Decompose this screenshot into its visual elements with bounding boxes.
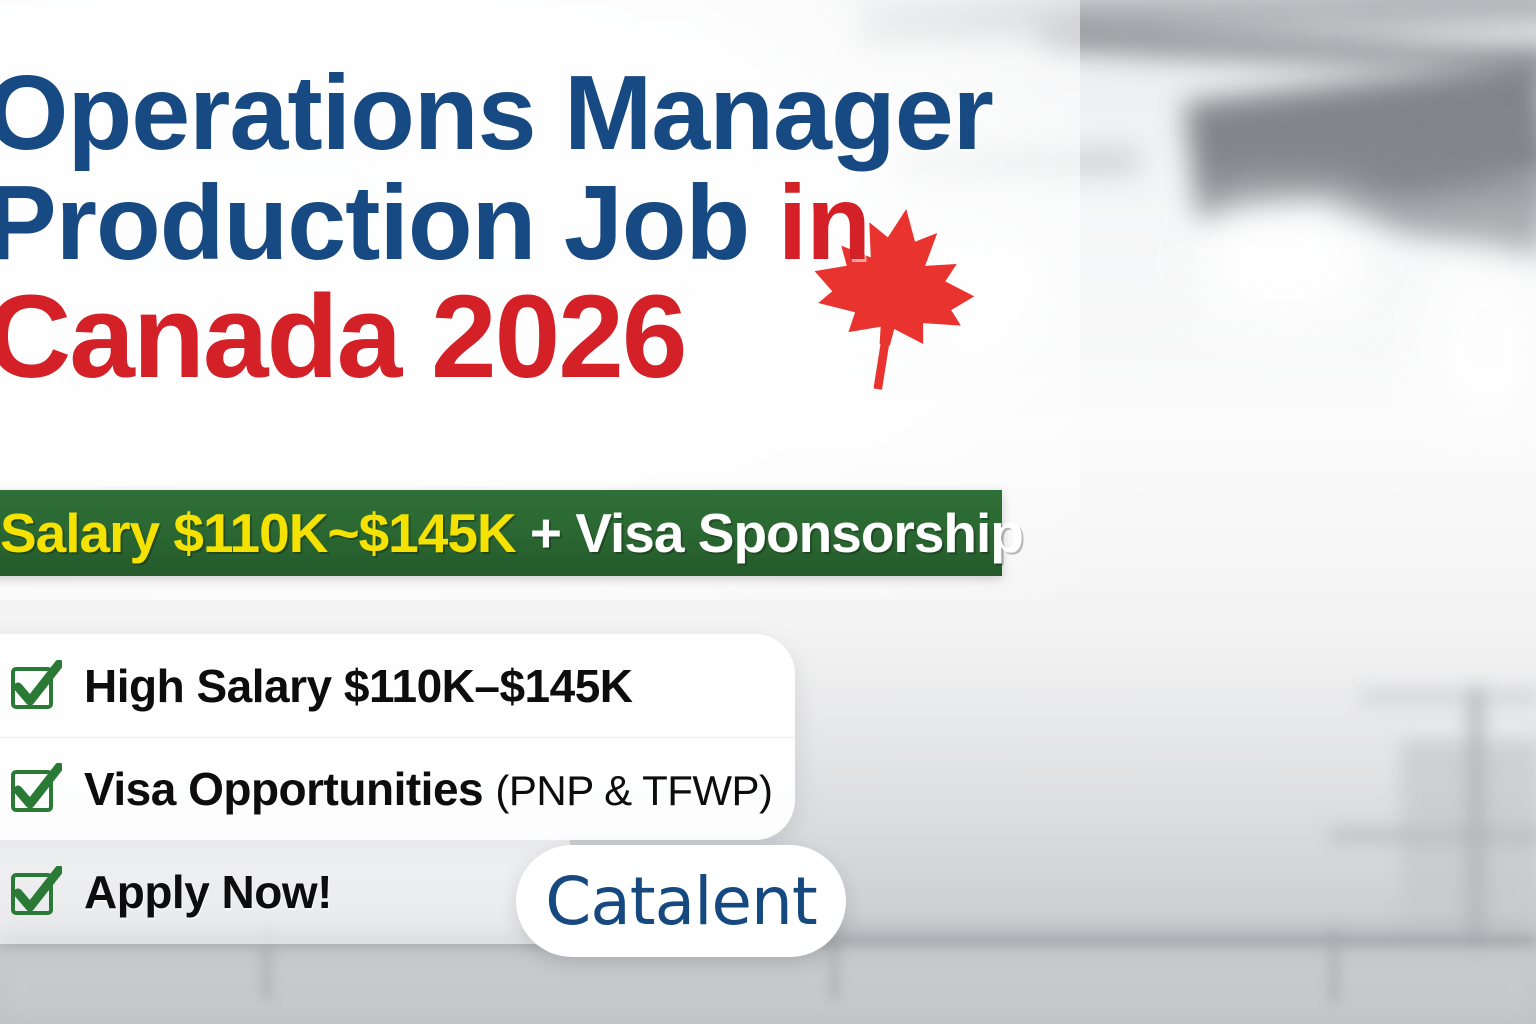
feature-row: High Salary $110K–$145K — [0, 634, 795, 737]
headline-line-2-main: Production Job — [0, 164, 778, 282]
salary-amount: Salary $110K~$145K — [0, 502, 516, 564]
headline-line-3: Canada 2026 — [0, 280, 1006, 396]
feature-label-sub: (PNP & TFWP) — [495, 767, 772, 814]
feature-label-main: Visa Opportunities — [84, 763, 495, 815]
apply-now-label: Apply Now! — [84, 865, 332, 919]
company-logo: Catalent — [516, 845, 846, 957]
feature-row: Visa Opportunities (PNP & TFWP) — [0, 737, 795, 840]
check-box-icon — [10, 660, 62, 712]
salary-visa-text: + Visa Sponsorship — [516, 502, 1023, 564]
check-box-icon — [10, 763, 62, 815]
feature-card: High Salary $110K–$145K Visa Opportuniti… — [0, 634, 795, 840]
check-box-icon — [10, 866, 62, 918]
feature-label: High Salary $110K–$145K — [84, 659, 633, 713]
job-ad-banner: Operations Manager Production Job in Can… — [0, 0, 1536, 1024]
headline-line-1: Operations Manager — [0, 62, 1006, 166]
apply-row[interactable]: Apply Now! — [0, 840, 570, 944]
headline-block: Operations Manager Production Job in Can… — [0, 62, 1006, 395]
headline-line-2-accent: in — [778, 164, 870, 282]
salary-banner: Salary $110K~$145K + Visa Sponsorship — [0, 490, 1002, 576]
salary-banner-text: Salary $110K~$145K + Visa Sponsorship — [0, 501, 1023, 565]
company-logo-text: Catalent — [545, 863, 817, 940]
headline-line-2: Production Job in — [0, 172, 1006, 276]
feature-label: Visa Opportunities (PNP & TFWP) — [84, 762, 773, 816]
